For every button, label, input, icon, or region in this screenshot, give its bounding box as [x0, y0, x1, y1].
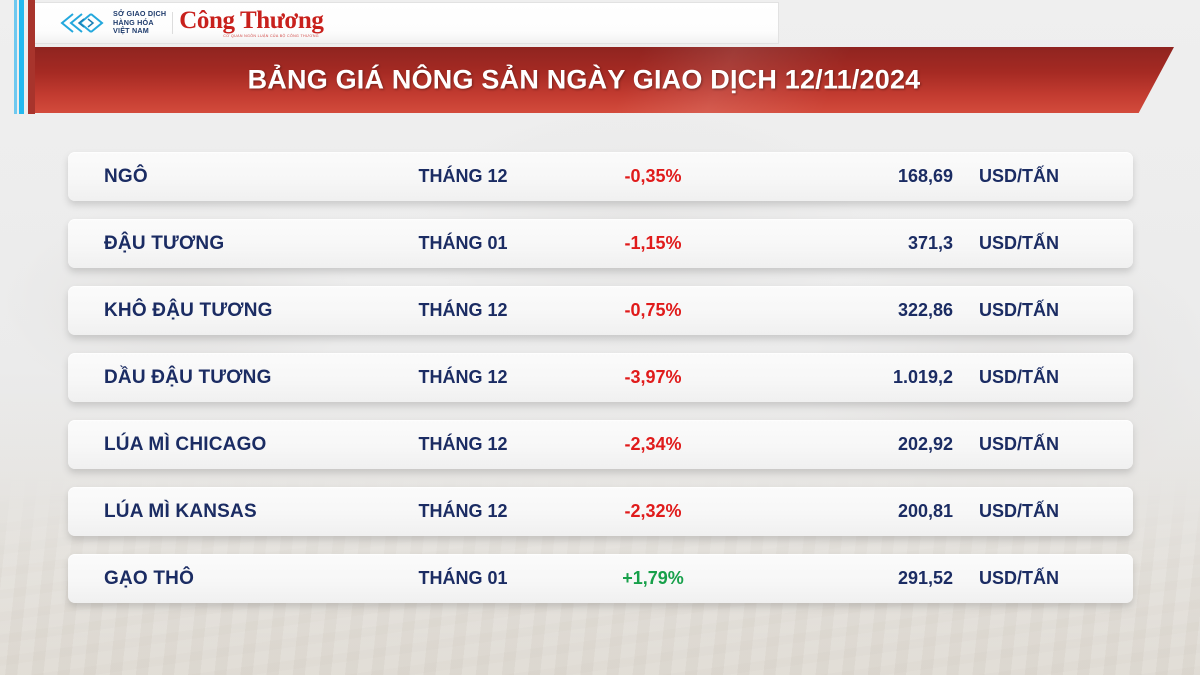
- mxv-line-3: VIỆT NAM: [113, 27, 166, 35]
- commodity-name: NGÔ: [68, 166, 368, 188]
- price-unit: USD/TẤN: [953, 367, 1059, 388]
- change-percent: -2,32%: [558, 501, 748, 522]
- stripe-cyan: [19, 0, 24, 114]
- price-unit: USD/TẤN: [953, 501, 1059, 522]
- change-percent: -0,35%: [558, 166, 748, 187]
- title-banner: BẢNG GIÁ NÔNG SẢN NGÀY GIAO DỊCH 12/11/2…: [34, 47, 1174, 113]
- commodity-name: DẦU ĐẬU TƯƠNG: [68, 367, 368, 389]
- price-value: 371,3: [748, 233, 953, 254]
- congthuong-subtitle: CƠ QUAN NGÔN LUẬN CỦA BỘ CÔNG THƯƠNG: [223, 35, 323, 39]
- price-value: 322,86: [748, 300, 953, 321]
- change-percent: -0,75%: [558, 300, 748, 321]
- commodity-name: ĐẬU TƯƠNG: [68, 233, 368, 255]
- congthuong-title: Công Thương: [179, 8, 323, 33]
- contract-month: THÁNG 12: [368, 300, 558, 321]
- contract-month: THÁNG 12: [368, 501, 558, 522]
- mxv-wordmark: SỞ GIAO DỊCH HÀNG HÓA VIỆT NAM: [113, 10, 166, 35]
- commodity-name: GẠO THÔ: [68, 568, 368, 590]
- stripe-light-blue: [14, 0, 17, 114]
- commodity-name: LÚA MÌ KANSAS: [68, 501, 368, 523]
- price-board-page: SỞ GIAO DỊCH HÀNG HÓA VIỆT NAM Công Thươ…: [0, 0, 1200, 675]
- contract-month: THÁNG 01: [368, 568, 558, 589]
- stripe-red: [28, 0, 35, 114]
- price-value: 202,92: [748, 434, 953, 455]
- price-value: 168,69: [748, 166, 953, 187]
- mxv-logo-group: SỞ GIAO DỊCH HÀNG HÓA VIỆT NAM: [59, 10, 166, 35]
- congthuong-logo: Công Thương CƠ QUAN NGÔN LUẬN CỦA BỘ CÔN…: [179, 8, 323, 39]
- contract-month: THÁNG 12: [368, 434, 558, 455]
- change-percent: -3,97%: [558, 367, 748, 388]
- price-unit: USD/TẤN: [953, 568, 1059, 589]
- page-title: BẢNG GIÁ NÔNG SẢN NGÀY GIAO DỊCH 12/11/2…: [34, 65, 1174, 96]
- table-row: GẠO THÔ THÁNG 01 +1,79% 291,52 USD/TẤN: [68, 554, 1133, 603]
- contract-month: THÁNG 12: [368, 166, 558, 187]
- table-row: DẦU ĐẬU TƯƠNG THÁNG 12 -3,97% 1.019,2 US…: [68, 353, 1133, 402]
- price-unit: USD/TẤN: [953, 300, 1059, 321]
- contract-month: THÁNG 12: [368, 367, 558, 388]
- mxv-chevron-logo-icon: [59, 11, 105, 35]
- table-row: LÚA MÌ CHICAGO THÁNG 12 -2,34% 202,92 US…: [68, 420, 1133, 469]
- table-row: KHÔ ĐẬU TƯƠNG THÁNG 12 -0,75% 322,86 USD…: [68, 286, 1133, 335]
- commodity-name: KHÔ ĐẬU TƯƠNG: [68, 300, 368, 322]
- change-percent: +1,79%: [558, 568, 748, 589]
- left-accent-stripes: [0, 0, 36, 114]
- logo-bar: SỞ GIAO DỊCH HÀNG HÓA VIỆT NAM Công Thươ…: [34, 2, 779, 44]
- table-row: NGÔ THÁNG 12 -0,35% 168,69 USD/TẤN: [68, 152, 1133, 201]
- change-percent: -2,34%: [558, 434, 748, 455]
- table-row: ĐẬU TƯƠNG THÁNG 01 -1,15% 371,3 USD/TẤN: [68, 219, 1133, 268]
- price-unit: USD/TẤN: [953, 166, 1059, 187]
- price-value: 291,52: [748, 568, 953, 589]
- change-percent: -1,15%: [558, 233, 748, 254]
- table-row: LÚA MÌ KANSAS THÁNG 12 -2,32% 200,81 USD…: [68, 487, 1133, 536]
- price-unit: USD/TẤN: [953, 434, 1059, 455]
- price-value: 1.019,2: [748, 367, 953, 388]
- price-unit: USD/TẤN: [953, 233, 1059, 254]
- price-value: 200,81: [748, 501, 953, 522]
- price-table: NGÔ THÁNG 12 -0,35% 168,69 USD/TẤN ĐẬU T…: [68, 152, 1133, 621]
- commodity-name: LÚA MÌ CHICAGO: [68, 434, 368, 456]
- logo-divider: [172, 12, 173, 34]
- contract-month: THÁNG 01: [368, 233, 558, 254]
